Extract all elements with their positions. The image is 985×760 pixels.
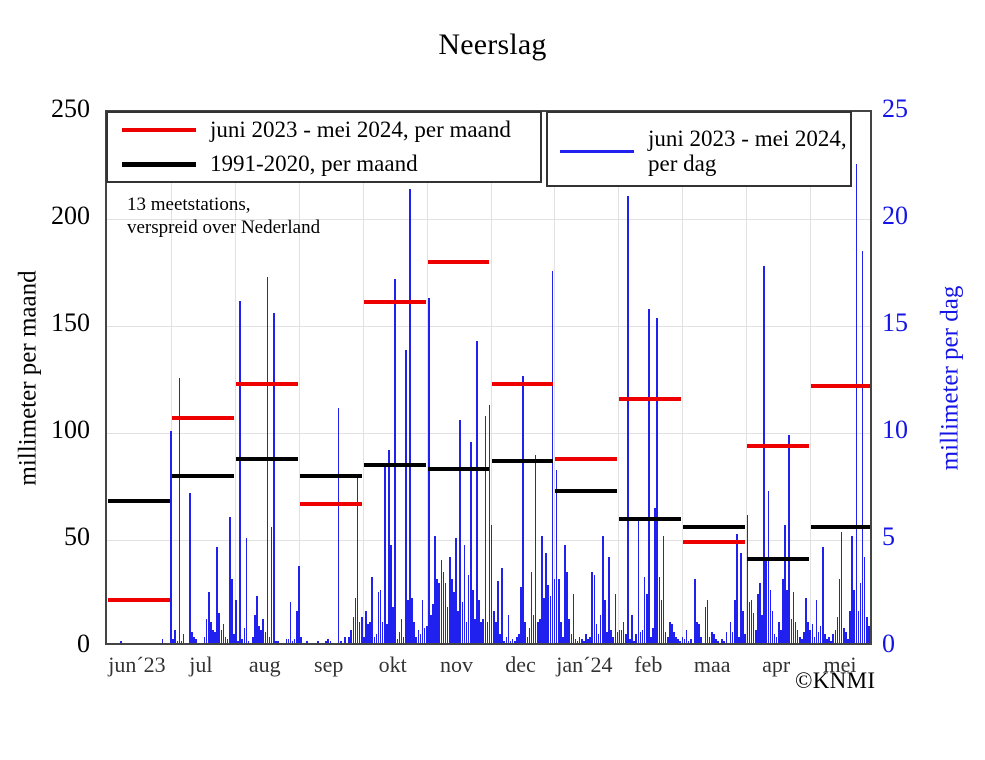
daily-bar [231, 579, 233, 643]
daily-bar [501, 568, 503, 643]
monthly-normal-line [619, 517, 681, 521]
monthly-current-line [555, 457, 617, 461]
plot-area [105, 110, 872, 645]
daily-bar [788, 435, 790, 643]
y-axis-right-tick: 10 [882, 415, 942, 445]
daily-bar [405, 350, 407, 643]
daily-bar [631, 615, 633, 643]
daily-bar [476, 341, 478, 643]
y-axis-left-tick: 100 [10, 415, 90, 445]
daily-bar [394, 279, 396, 643]
gridline-vertical [618, 112, 619, 643]
daily-bar [485, 416, 487, 643]
monthly-normal-line [428, 467, 490, 471]
daily-bar [235, 600, 237, 643]
monthly-current-line [108, 598, 170, 602]
y-axis-left-tick: 50 [10, 522, 90, 552]
daily-bar [522, 376, 524, 644]
legend-swatch-red-line-icon [122, 128, 196, 132]
legend-label-current-monthly: juni 2023 - mei 2024, per maand [210, 117, 511, 142]
daily-bar [277, 641, 279, 643]
plot-inner [107, 112, 870, 643]
legend-monthly[interactable]: juni 2023 - mei 2024, per maand 1991-202… [106, 111, 542, 183]
legend-label-daily: juni 2023 - mei 2024, per dag [648, 126, 848, 177]
monthly-current-line [364, 300, 426, 304]
daily-bar [170, 431, 172, 643]
monthly-normal-line [747, 557, 809, 561]
daily-bar [306, 641, 308, 643]
y-axis-left-tick: 0 [10, 629, 90, 659]
monthly-normal-line [364, 463, 426, 467]
monthly-current-line [300, 502, 362, 506]
monthly-current-line [811, 384, 870, 388]
daily-bar [317, 641, 319, 643]
daily-bar [700, 637, 702, 643]
daily-bar [248, 641, 250, 643]
daily-bar [690, 639, 692, 643]
daily-bar [298, 566, 300, 643]
daily-bar [330, 641, 332, 643]
daily-bar [856, 164, 858, 643]
legend-label-normal-monthly: 1991-2020, per maand [210, 151, 418, 176]
monthly-normal-line [108, 499, 170, 503]
y-axis-right-tick: 5 [882, 522, 942, 552]
monthly-current-line [619, 397, 681, 401]
daily-bar [822, 547, 824, 643]
daily-bar [371, 577, 373, 643]
daily-bar [627, 196, 629, 643]
monthly-current-line [683, 540, 745, 544]
monthly-current-line [492, 382, 554, 386]
monthly-normal-line [555, 489, 617, 493]
monthly-normal-line [300, 474, 362, 478]
daily-bar [338, 408, 340, 643]
daily-bar [663, 536, 665, 643]
gridline-vertical [299, 112, 300, 643]
copyright-notice: ©KNMI [795, 668, 875, 694]
y-axis-right-tick: 20 [882, 201, 942, 231]
legend-swatch-blue-line-icon [560, 150, 634, 153]
daily-bar [239, 301, 241, 643]
daily-bar [573, 594, 575, 643]
daily-bar [357, 474, 359, 643]
chart-canvas: Neerslag millimeter per maand millimeter… [0, 0, 985, 760]
page-title: Neerslag [0, 28, 985, 62]
legend-item-current-monthly[interactable]: juni 2023 - mei 2024, per maand [108, 113, 540, 147]
y-axis-left-tick: 250 [10, 94, 90, 124]
daily-bar [841, 532, 843, 643]
monthly-normal-line [172, 474, 234, 478]
monthly-current-line [236, 382, 298, 386]
monthly-current-line [747, 444, 809, 448]
legend-swatch-black-line-icon [122, 162, 196, 167]
y-axis-right-label: millimeter per dag [930, 110, 970, 645]
monthly-normal-line [236, 457, 298, 461]
daily-bar [183, 634, 185, 643]
gridline-vertical [235, 112, 236, 643]
y-axis-left-tick: 200 [10, 201, 90, 231]
daily-bar [648, 309, 650, 643]
y-axis-left-label: millimeter per maand [12, 110, 46, 645]
daily-bar [726, 632, 728, 643]
daily-bar [340, 641, 342, 643]
gridline-vertical [363, 112, 364, 643]
monthly-current-line [172, 416, 234, 420]
daily-bar [535, 455, 537, 643]
daily-bar [189, 493, 191, 643]
station-note-line1: 13 meetstations, [127, 193, 320, 216]
legend-item-normal-monthly[interactable]: 1991-2020, per maand [108, 147, 540, 181]
y-axis-right-tick: 0 [882, 629, 942, 659]
daily-bar [717, 641, 719, 643]
y-axis-left-tick: 150 [10, 308, 90, 338]
station-note-line2: verspreid over Nederland [127, 216, 320, 239]
daily-bar [736, 534, 738, 643]
daily-bar [638, 519, 640, 643]
gridline-horizontal [107, 326, 870, 327]
daily-bar [508, 615, 510, 643]
monthly-current-line [428, 260, 490, 264]
daily-bar [344, 637, 346, 643]
y-axis-right-tick: 25 [882, 94, 942, 124]
daily-bar [273, 313, 275, 643]
daily-bar [195, 639, 197, 643]
station-note: 13 meetstations, verspreid over Nederlan… [127, 193, 320, 239]
daily-bar [120, 641, 122, 643]
legend-item-daily[interactable]: juni 2023 - mei 2024, per dag [548, 113, 850, 189]
legend-daily[interactable]: juni 2023 - mei 2024, per dag [546, 111, 852, 187]
daily-bar [162, 639, 164, 643]
monthly-normal-line [811, 525, 870, 529]
daily-bar [300, 637, 302, 643]
daily-bar [384, 465, 386, 643]
y-axis-right-tick: 15 [882, 308, 942, 338]
daily-bar [409, 189, 411, 643]
daily-bar [290, 602, 292, 643]
gridline-vertical [682, 112, 683, 643]
monthly-normal-line [683, 525, 745, 529]
monthly-normal-line [492, 459, 554, 463]
daily-bar [246, 538, 248, 643]
gridline-vertical [810, 112, 811, 643]
